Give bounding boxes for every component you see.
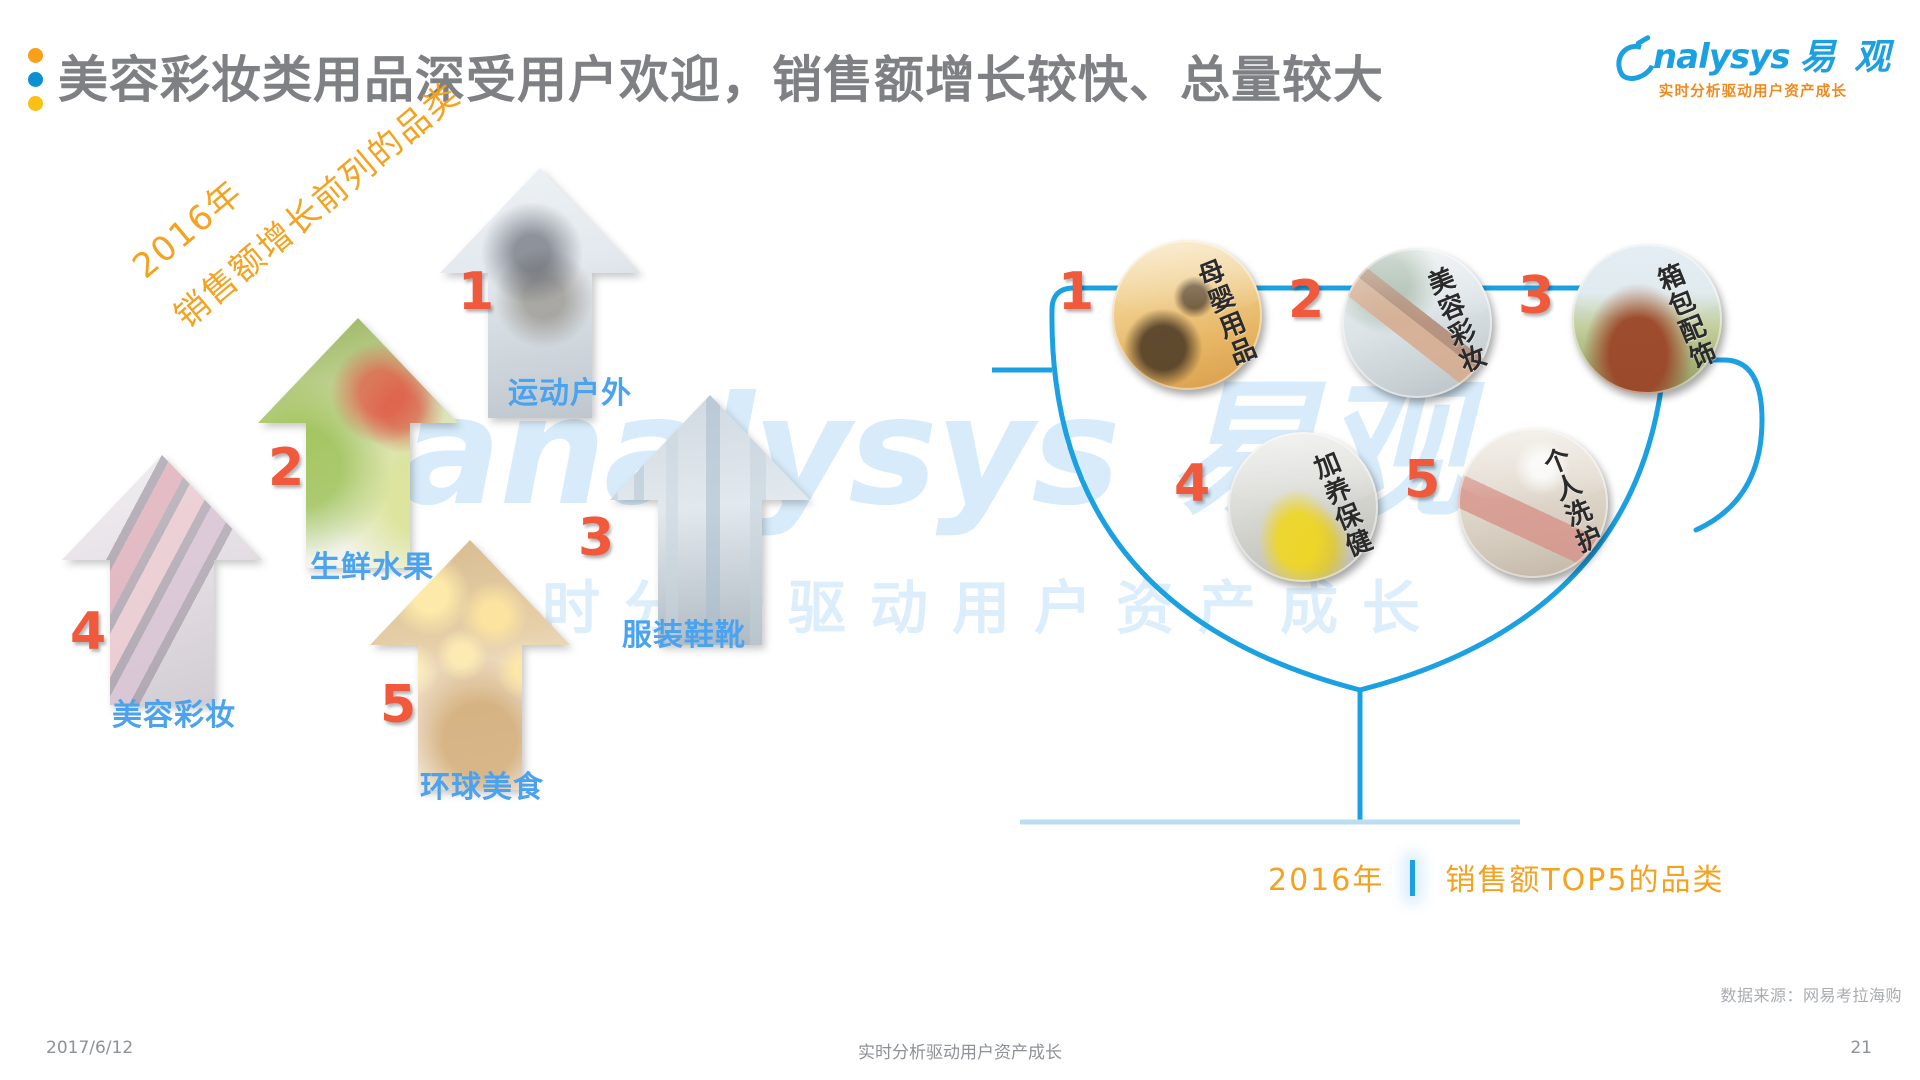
top5-caption-year: 2016年 [1268,863,1384,898]
hanging-clothes-photo [610,395,810,645]
arrow-card-3[interactable] [610,395,810,645]
circle-rank-4: 4 [1174,454,1210,514]
circle-rank-1: 1 [1058,262,1094,322]
yellow-dot-icon [28,96,43,111]
bullet-dots-group [28,48,50,120]
top5-caption: 2016年销售额TOP5的品类 [1268,855,1724,899]
logo-main-row: nalysys易 观 [1608,38,1898,78]
footer-slogan: 实时分析驱动用户资产成长 [858,1038,1062,1063]
orange-dot-icon [28,48,43,63]
category-circle-1[interactable]: 1 母婴用品 [1112,240,1262,390]
logo-tagline: 实时分析驱动用户资产成长 [1608,80,1898,101]
footer-page-number: 21 [1850,1038,1872,1058]
arrow-label-5: 环球美食 [420,762,544,806]
cookies-photo [370,540,570,790]
analysys-logo: nalysys易 观 实时分析驱动用户资产成长 [1608,38,1898,116]
data-source-note: 数据来源：网易考拉海购 [1720,982,1902,1006]
analysys-swoosh-icon [1613,38,1653,78]
circle-rank-5: 5 [1404,450,1440,510]
page-title: 美容彩妆类用品深受用户欢迎，销售额增长较快、总量较大 [58,40,1384,112]
circle-rank-2: 2 [1288,270,1324,330]
category-circle-2[interactable]: 2 美容彩妆 [1342,248,1492,398]
caption-divider [1410,860,1415,896]
arrow-label-4: 美容彩妆 [112,690,236,734]
arrow-rank-4: 4 [70,602,106,662]
arrow-rank-1: 1 [458,262,494,322]
arrow-card-4[interactable] [62,455,262,705]
arrow-label-3: 服装鞋靴 [622,610,746,654]
footer-date: 2017/6/12 [46,1038,133,1058]
category-circle-4[interactable]: 4 加养保健 [1228,432,1378,582]
category-circle-5[interactable]: 5 个人洗护 [1458,428,1608,578]
circle-rank-3: 3 [1518,266,1554,326]
eyeshadow-palette-photo [62,455,262,705]
page-footer: 2017/6/12 实时分析驱动用户资产成长 21 [0,1020,1920,1080]
arrow-rank-5: 5 [380,675,416,735]
arrow-card-5[interactable] [370,540,570,790]
top5-caption-text: 销售额TOP5的品类 [1445,863,1724,898]
logo-chinese-name: 易 观 [1800,37,1894,78]
arrow-rank-2: 2 [268,438,304,498]
arrow-rank-3: 3 [578,508,614,568]
logo-wordmark: nalysys [1653,37,1790,77]
category-circle-3[interactable]: 3 箱包配饰 [1572,244,1722,394]
blue-dot-icon [28,72,43,87]
